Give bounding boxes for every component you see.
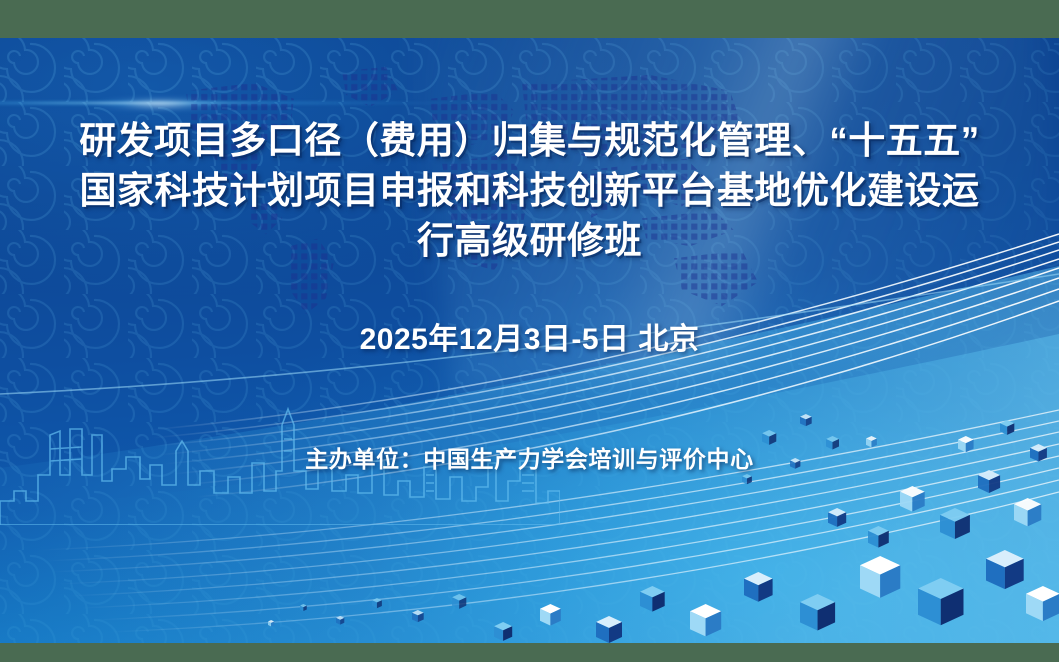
poster-text-layer: 研发项目多口径（费用）归集与规范化管理、“十五五” 国家科技计划项目申报和科技创… bbox=[0, 0, 1059, 662]
poster-title-line-1: 研发项目多口径（费用）归集与规范化管理、“十五五” bbox=[0, 122, 1059, 159]
top-letterbox-band bbox=[0, 0, 1059, 38]
event-date-location: 2025年12月3日-5日 北京 bbox=[0, 314, 1059, 358]
bottom-letterbox-band bbox=[0, 643, 1059, 662]
poster-title-line-2: 国家科技计划项目申报和科技创新平台基地优化建设运 bbox=[0, 172, 1059, 209]
poster-title-line-3: 行高级研修班 bbox=[0, 222, 1059, 259]
organizer-line: 主办单位：中国生产力学会培训与评价中心 bbox=[0, 440, 1059, 474]
conference-poster: 研发项目多口径（费用）归集与规范化管理、“十五五” 国家科技计划项目申报和科技创… bbox=[0, 0, 1059, 662]
